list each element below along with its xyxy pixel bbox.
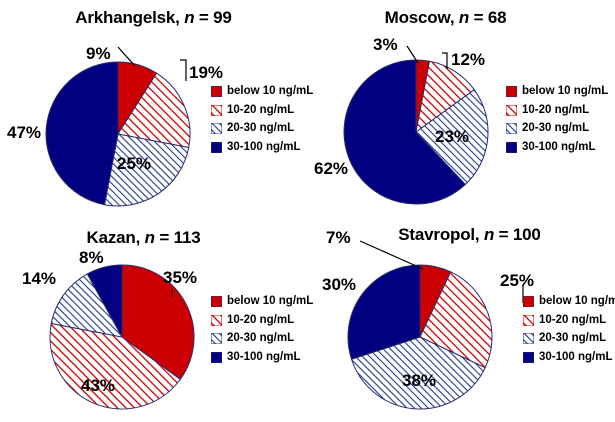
legend-moscow: below 10 ng/mL 10-20 ng/mL 20-30 ng/mL 3…	[506, 86, 608, 153]
slice-label-below-10: 35%	[163, 269, 197, 286]
slice-label-20-30: 14%	[22, 270, 56, 287]
legend-swatch-below-10-icon	[211, 296, 222, 307]
pie-panel-stavropol: Stavropol, n = 100	[308, 211, 615, 421]
legend-label-below-10: below 10 ng/mL	[227, 296, 313, 308]
slice-label-below-10: 3%	[373, 36, 398, 53]
legend-item-20-30[interactable]: 20-30 ng/mL	[211, 333, 313, 345]
legend-label-10-20: 10-20 ng/mL	[539, 315, 606, 327]
legend-item-20-30[interactable]: 20-30 ng/mL	[523, 333, 615, 345]
legend-swatch-below-10-icon	[523, 296, 534, 307]
legend-label-20-30: 20-30 ng/mL	[227, 333, 294, 345]
legend-label-20-30: 20-30 ng/mL	[539, 333, 606, 345]
pie-panel-arkhangelsk: Arkhangelsk, n = 99	[0, 0, 307, 210]
legend-item-below-10[interactable]: below 10 ng/mL	[523, 296, 615, 308]
slice-label-30-100: 30%	[322, 276, 356, 293]
legend-label-30-100: 30-100 ng/mL	[227, 352, 301, 364]
slice-label-20-30: 25%	[117, 155, 151, 172]
legend-item-10-20[interactable]: 10-20 ng/mL	[211, 315, 313, 327]
legend-swatch-10-20-icon	[211, 105, 222, 116]
pie-panel-kazan: Kazan, n = 113	[0, 211, 307, 421]
legend-swatch-30-100-icon	[506, 142, 517, 153]
legend-item-30-100[interactable]: 30-100 ng/mL	[523, 352, 615, 364]
legend-item-below-10[interactable]: below 10 ng/mL	[506, 86, 608, 98]
legend-swatch-30-100-icon	[523, 352, 534, 363]
legend-kazan: below 10 ng/mL 10-20 ng/mL 20-30 ng/mL 3…	[211, 296, 313, 363]
slice-label-30-100: 62%	[314, 160, 348, 177]
legend-label-20-30: 20-30 ng/mL	[522, 123, 589, 135]
legend-label-below-10: below 10 ng/mL	[539, 296, 615, 308]
slice-label-20-30: 23%	[435, 128, 469, 145]
legend-swatch-30-100-icon	[211, 352, 222, 363]
legend-label-30-100: 30-100 ng/mL	[539, 352, 613, 364]
legend-swatch-10-20-icon	[523, 315, 534, 326]
slice-label-10-20: 25%	[500, 272, 534, 289]
legend-label-10-20: 10-20 ng/mL	[227, 105, 294, 117]
four-pie-chart-figure: Arkhangelsk, n = 99	[0, 0, 615, 421]
pie-panel-moscow: Moscow, n = 68	[308, 0, 615, 210]
legend-swatch-20-30-icon	[211, 123, 222, 134]
legend-item-30-100[interactable]: 30-100 ng/mL	[211, 142, 313, 154]
legend-label-below-10: below 10 ng/mL	[227, 86, 313, 98]
legend-swatch-10-20-icon	[211, 315, 222, 326]
legend-item-20-30[interactable]: 20-30 ng/mL	[506, 123, 608, 135]
legend-label-below-10: below 10 ng/mL	[522, 86, 608, 98]
legend-label-30-100: 30-100 ng/mL	[522, 142, 596, 154]
legend-label-10-20: 10-20 ng/mL	[227, 315, 294, 327]
slice-label-30-100: 47%	[7, 124, 41, 141]
legend-swatch-20-30-icon	[211, 333, 222, 344]
legend-item-30-100[interactable]: 30-100 ng/mL	[506, 142, 608, 154]
legend-item-10-20[interactable]: 10-20 ng/mL	[506, 105, 608, 117]
legend-item-20-30[interactable]: 20-30 ng/mL	[211, 123, 313, 135]
legend-swatch-below-10-icon	[211, 86, 222, 97]
legend-item-30-100[interactable]: 30-100 ng/mL	[211, 352, 313, 364]
legend-arkhangelsk: below 10 ng/mL 10-20 ng/mL 20-30 ng/mL 3…	[211, 86, 313, 153]
legend-swatch-10-20-icon	[506, 105, 517, 116]
slice-label-30-100: 8%	[79, 249, 104, 266]
slice-label-below-10: 7%	[326, 229, 351, 246]
legend-item-below-10[interactable]: below 10 ng/mL	[211, 296, 313, 308]
legend-swatch-20-30-icon	[506, 123, 517, 134]
legend-label-30-100: 30-100 ng/mL	[227, 142, 301, 154]
slice-label-10-20: 19%	[189, 64, 223, 81]
slice-label-10-20: 12%	[451, 51, 485, 68]
legend-swatch-20-30-icon	[523, 333, 534, 344]
legend-swatch-below-10-icon	[506, 86, 517, 97]
legend-swatch-30-100-icon	[211, 142, 222, 153]
legend-label-20-30: 20-30 ng/mL	[227, 123, 294, 135]
slice-label-below-10: 9%	[86, 45, 111, 62]
legend-item-below-10[interactable]: below 10 ng/mL	[211, 86, 313, 98]
slice-label-10-20: 43%	[81, 377, 115, 394]
legend-item-10-20[interactable]: 10-20 ng/mL	[523, 315, 615, 327]
legend-item-10-20[interactable]: 10-20 ng/mL	[211, 105, 313, 117]
legend-stavropol: below 10 ng/mL 10-20 ng/mL 20-30 ng/mL 3…	[523, 296, 615, 363]
legend-label-10-20: 10-20 ng/mL	[522, 105, 589, 117]
slice-label-20-30: 38%	[402, 372, 436, 389]
